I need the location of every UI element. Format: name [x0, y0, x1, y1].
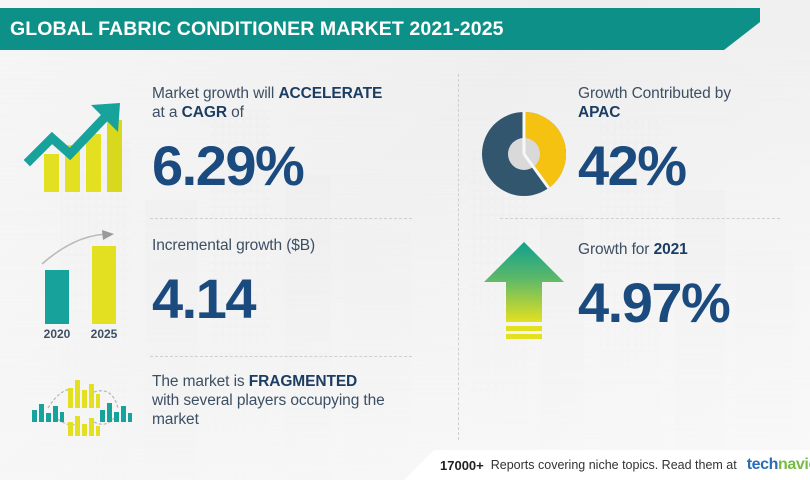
donut-chart-icon	[474, 104, 574, 204]
incremental-growth-label: Incremental growth ($B)	[152, 236, 452, 255]
vertical-divider	[458, 74, 459, 440]
horizontal-divider-left-1	[150, 218, 412, 219]
cagr-label: Market growth will ACCELERATE at a CAGR …	[152, 84, 452, 122]
cagr-value: 6.29%	[152, 138, 452, 194]
growth-2021-label: Growth for 2021	[578, 240, 803, 259]
bar-label-2020: 2020	[44, 327, 71, 341]
fragmented-market-cell: The market is FRAGMENTED with several pl…	[152, 372, 452, 429]
growth-2021-cell: Growth for 2021 4.97%	[578, 240, 803, 331]
apac-label: Growth Contributed by APAC	[578, 84, 803, 122]
bar-chart-icon: 2020 2025	[18, 228, 138, 344]
incremental-growth-value: 4.14	[152, 271, 452, 327]
footer-bar: 17000+ Reports covering niche topics. Re…	[404, 450, 810, 480]
horizontal-divider-left-2	[150, 356, 412, 357]
growth-arrow-chart-icon	[22, 92, 138, 196]
up-arrow-icon	[472, 238, 576, 342]
growth-2021-value: 4.97%	[578, 275, 803, 331]
fragmented-market-buildings-icon	[18, 372, 138, 438]
infographic-root: GLOBAL FABRIC CONDITIONER MARKET 2021-20…	[0, 0, 810, 480]
bar-label-2025: 2025	[91, 327, 118, 341]
logo-text-navio: navio	[778, 456, 810, 473]
technavio-logo[interactable]: technavio	[747, 456, 810, 474]
page-title: GLOBAL FABRIC CONDITIONER MARKET 2021-20…	[10, 18, 504, 41]
incremental-growth-cell: Incremental growth ($B) 4.14	[152, 236, 452, 327]
logo-text-tech: tech	[747, 456, 778, 473]
header-banner: GLOBAL FABRIC CONDITIONER MARKET 2021-20…	[0, 8, 760, 50]
horizontal-divider-right-1	[500, 218, 780, 219]
reports-count: 17000+	[440, 458, 484, 473]
cagr-cell: Market growth will ACCELERATE at a CAGR …	[152, 84, 452, 194]
footer-text: Reports covering niche topics. Read them…	[491, 458, 737, 472]
apac-cell: Growth Contributed by APAC 42%	[578, 84, 803, 194]
apac-value: 42%	[578, 138, 803, 194]
fragmented-market-label: The market is FRAGMENTED with several pl…	[152, 372, 452, 429]
